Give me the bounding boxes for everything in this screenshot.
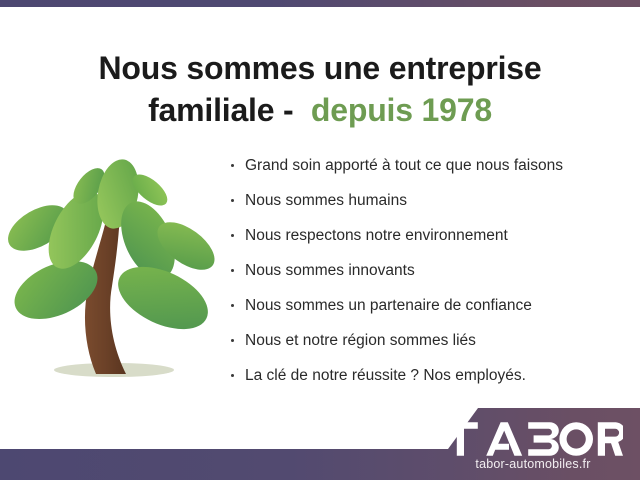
list-item: Nous respectons notre environnement — [228, 218, 628, 253]
list-item: Nous sommes un partenaire de confiance — [228, 288, 628, 323]
list-item-label: La clé de notre réussite ? Nos employés. — [245, 367, 526, 384]
tabor-wordmark — [443, 422, 623, 456]
slide-canvas: Nous sommes une entreprise familiale - d… — [0, 0, 640, 480]
title-line-2: familiale - depuis 1978 — [0, 89, 640, 131]
tree-illustration — [8, 148, 223, 388]
value-list: Grand soin apporté à tout ce que nous fa… — [228, 148, 628, 393]
list-item: Nous sommes humains — [228, 183, 628, 218]
title-line-1: Nous sommes une entreprise — [0, 47, 640, 89]
brand-logo[interactable]: tabor-automobiles.fr — [438, 422, 628, 472]
list-item-label: Nous sommes un partenaire de confiance — [245, 297, 532, 314]
list-item-label: Grand soin apporté à tout ce que nous fa… — [245, 157, 563, 174]
list-item-label: Nous sommes innovants — [245, 262, 415, 279]
title-dash: - — [283, 92, 293, 128]
list-item: Grand soin apporté à tout ce que nous fa… — [228, 148, 628, 183]
page-title: Nous sommes une entreprise familiale - d… — [0, 47, 640, 131]
brand-url: tabor-automobiles.fr — [438, 457, 628, 472]
list-item-label: Nous respectons notre environnement — [245, 227, 508, 244]
list-item: Nous sommes innovants — [228, 253, 628, 288]
list-item: La clé de notre réussite ? Nos employés. — [228, 358, 628, 393]
list-item-label: Nous sommes humains — [245, 192, 407, 209]
list-item-label: Nous et notre région sommes liés — [245, 332, 476, 349]
title-line-2-prefix: familiale — [148, 92, 274, 128]
list-item: Nous et notre région sommes liés — [228, 323, 628, 358]
title-accent: depuis 1978 — [311, 92, 492, 128]
top-accent-bar — [0, 0, 640, 7]
